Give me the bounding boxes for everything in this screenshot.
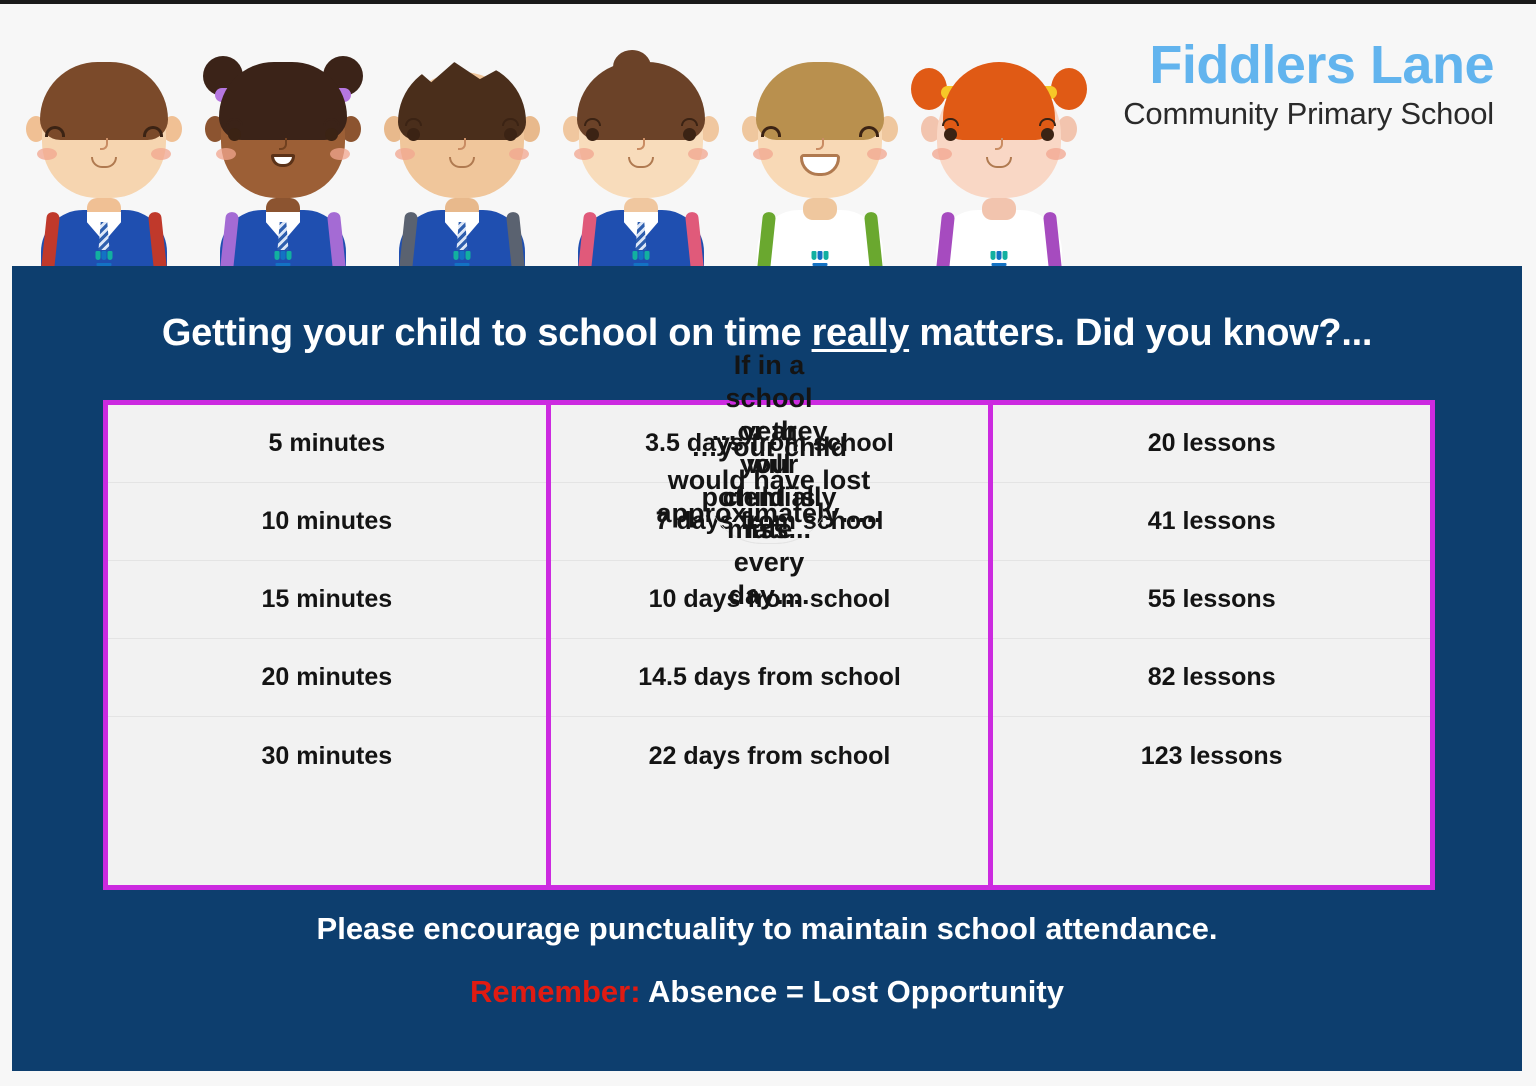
table-cell: 30 minutes <box>108 717 546 795</box>
table-cell: 82 lessons <box>993 639 1430 717</box>
child-boy-spiky-hair <box>376 54 548 272</box>
table-cell: 41 lessons <box>993 483 1430 561</box>
child-girl-afro-puffs <box>197 54 369 272</box>
table-cell: 10 minutes <box>108 483 546 561</box>
table-cell: 15 minutes <box>108 561 546 639</box>
title-emphasis: really <box>812 312 910 354</box>
children-illustration <box>18 54 1088 272</box>
column-header: …or they will potentially miss... <box>707 418 831 544</box>
title-part-1: Getting your child to school on time <box>162 312 812 354</box>
school-crest-icon <box>96 251 113 266</box>
table-cell: 123 lessons <box>993 717 1430 795</box>
table-cell: 20 lessons <box>993 405 1430 483</box>
school-crest-icon <box>991 251 1008 266</box>
school-crest-icon <box>275 251 292 266</box>
header-band: Fiddlers Lane Community Primary School <box>0 4 1536 272</box>
school-subtitle: Community Primary School <box>1123 98 1494 129</box>
remember-label: Remember: <box>470 974 641 1009</box>
school-crest-icon <box>812 251 829 266</box>
footer-encouragement: Please encourage punctuality to maintain… <box>12 911 1522 947</box>
table-column-lessons-missed: …or they will potentially miss... 20 les… <box>993 405 1430 885</box>
school-logo: Fiddlers Lane Community Primary School <box>1123 38 1494 129</box>
child-girl-bun-red-band <box>555 54 727 272</box>
child-boy-brown-hair <box>18 54 190 272</box>
child-girl-ginger-pigtails <box>913 54 1085 272</box>
table-cell: 14.5 days from school <box>551 639 989 717</box>
child-boy-blonde <box>734 54 906 272</box>
remember-text: Absence = Lost Opportunity <box>641 974 1064 1009</box>
table-cell: 55 lessons <box>993 561 1430 639</box>
footer-remember: Remember: Absence = Lost Opportunity <box>12 974 1522 1010</box>
table-cell: 22 days from school <box>551 717 989 795</box>
table-cell: 5 minutes <box>108 405 546 483</box>
school-crest-icon <box>454 251 471 266</box>
poster-page: Fiddlers Lane Community Primary School G… <box>0 0 1536 1086</box>
navy-content-panel: Getting your child to school on time rea… <box>12 266 1522 1071</box>
school-name: Fiddlers Lane <box>1123 38 1494 92</box>
table-cell: 20 minutes <box>108 639 546 717</box>
title-part-2: matters. Did you know?... <box>909 312 1372 354</box>
school-crest-icon <box>633 251 650 266</box>
table-column-lateness: If in a school year your child is late e… <box>108 405 546 885</box>
lateness-table: If in a school year your child is late e… <box>103 400 1435 890</box>
